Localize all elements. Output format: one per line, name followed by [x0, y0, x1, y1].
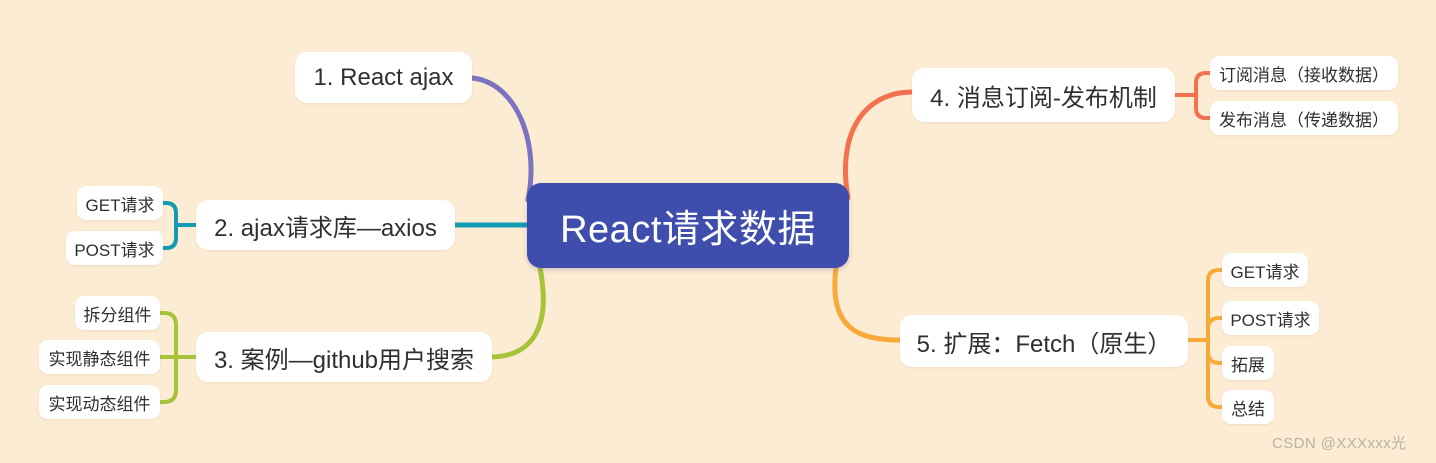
connector-branch-3-child-0	[160, 313, 176, 357]
branch-node-5[interactable]: 5. 扩展：Fetch（原生）	[900, 315, 1188, 367]
leaf-node-3-0-label: 拆分组件	[84, 301, 152, 326]
leaf-node-3-1[interactable]: 实现静态组件	[39, 340, 160, 374]
connector-branch-2-child-0	[163, 203, 176, 225]
branch-node-4-label: 4. 消息订阅-发布机制	[930, 78, 1157, 113]
connector-branch-5-child-1	[1208, 318, 1222, 340]
connector-branch-2-child-1	[163, 225, 176, 248]
connector-branch-3	[492, 268, 543, 357]
leaf-node-4-1[interactable]: 发布消息（传递数据）	[1210, 101, 1398, 135]
branch-node-1-label: 1. React ajax	[313, 64, 453, 92]
leaf-node-5-1-label: POST请求	[1230, 306, 1310, 331]
leaf-node-5-2[interactable]: 拓展	[1222, 346, 1274, 380]
connector-branch-4-child-1	[1196, 95, 1210, 118]
branch-node-3[interactable]: 3. 案例—github用户搜索	[196, 332, 492, 382]
root-node-label: React请求数据	[560, 198, 816, 253]
leaf-node-3-0[interactable]: 拆分组件	[75, 296, 160, 330]
leaf-node-2-1[interactable]: POST请求	[66, 231, 163, 265]
leaf-node-5-2-label: 拓展	[1231, 351, 1265, 376]
branch-node-4[interactable]: 4. 消息订阅-发布机制	[912, 68, 1175, 122]
leaf-node-2-0[interactable]: GET请求	[77, 186, 163, 220]
leaf-node-5-3[interactable]: 总结	[1222, 390, 1274, 424]
connector-branch-5-child-0	[1208, 270, 1222, 340]
leaf-node-4-0[interactable]: 订阅消息（接收数据）	[1210, 56, 1398, 90]
mindmap-canvas: React请求数据 1. React ajax 2. ajax请求库—axios…	[0, 0, 1436, 463]
connector-branch-3-child-2	[160, 357, 176, 402]
root-node[interactable]: React请求数据	[527, 183, 849, 268]
connector-branch-4-child-0	[1196, 73, 1210, 95]
csdn-watermark: CSDN @XXXxxx光	[1272, 432, 1407, 453]
connector-branch-5-child-2	[1208, 340, 1222, 363]
leaf-node-3-2-label: 实现动态组件	[49, 390, 151, 415]
branch-node-2-label: 2. ajax请求库—axios	[214, 208, 437, 243]
branch-node-5-label: 5. 扩展：Fetch（原生）	[917, 324, 1172, 359]
branch-node-2[interactable]: 2. ajax请求库—axios	[196, 200, 455, 250]
leaf-node-4-0-label: 订阅消息（接收数据）	[1219, 61, 1389, 86]
leaf-node-4-1-label: 发布消息（传递数据）	[1219, 106, 1389, 131]
connector-branch-5-child-3	[1208, 340, 1222, 407]
connector-branch-1	[472, 78, 531, 200]
leaf-node-5-1[interactable]: POST请求	[1222, 301, 1319, 335]
connector-branch-4	[845, 92, 912, 198]
branch-node-3-label: 3. 案例—github用户搜索	[214, 340, 474, 375]
leaf-node-5-0-label: GET请求	[1231, 258, 1300, 283]
leaf-node-2-1-label: POST请求	[74, 236, 154, 261]
connector-branch-5	[835, 268, 900, 340]
leaf-node-2-0-label: GET请求	[86, 191, 155, 216]
leaf-node-5-3-label: 总结	[1231, 395, 1265, 420]
leaf-node-3-2[interactable]: 实现动态组件	[39, 385, 160, 419]
leaf-node-3-1-label: 实现静态组件	[49, 345, 151, 370]
leaf-node-5-0[interactable]: GET请求	[1222, 253, 1308, 287]
branch-node-1[interactable]: 1. React ajax	[295, 52, 472, 103]
